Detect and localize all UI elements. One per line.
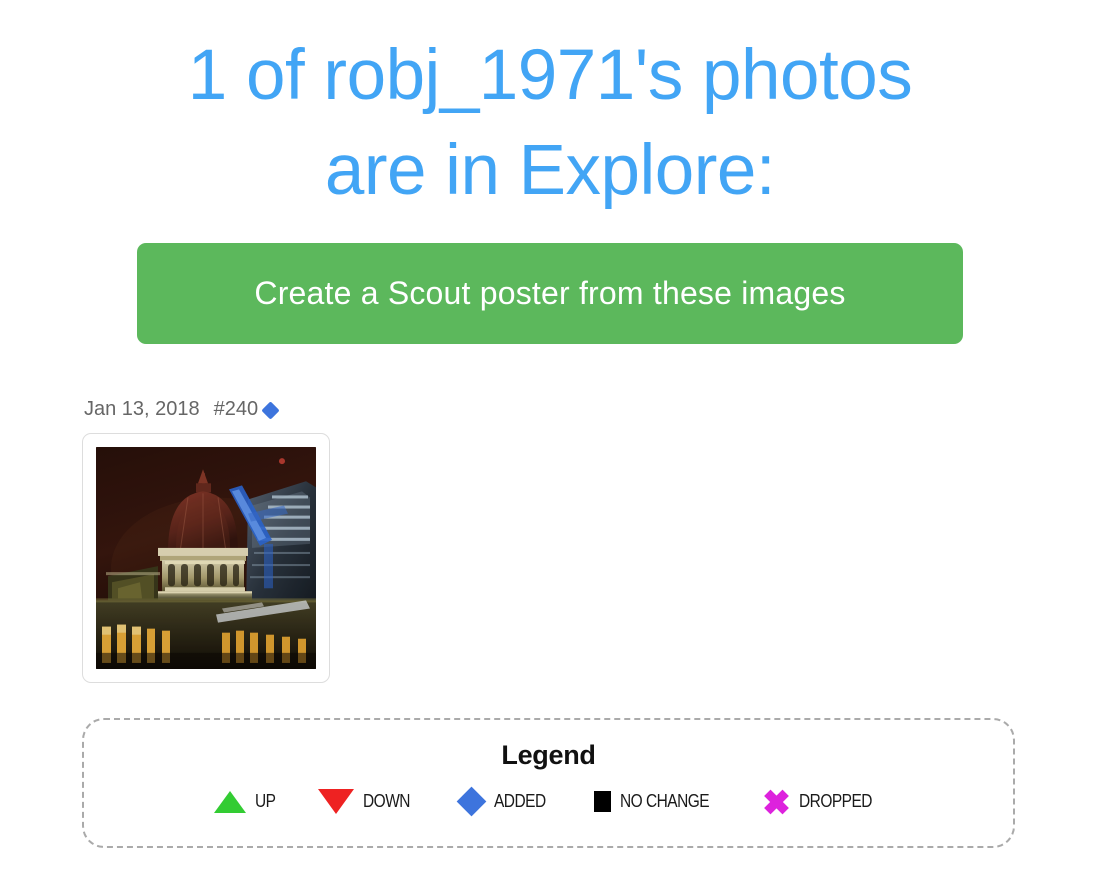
legend-item-added: ADDED	[458, 787, 554, 816]
legend-items: UP DOWN ADDED NO CHANGE DROPPED	[84, 787, 1013, 816]
entry-meta: Jan 13, 2018 #240	[84, 396, 277, 422]
legend-item-down: DOWN	[318, 789, 418, 814]
legend: Legend UP DOWN ADDED NO CHANGE DROPPED	[82, 718, 1015, 848]
photo-thumbnail[interactable]	[82, 433, 330, 683]
legend-title: Legend	[84, 740, 1013, 771]
legend-item-no-change: NO CHANGE	[594, 791, 724, 812]
create-scout-poster-button[interactable]: Create a Scout poster from these images	[137, 243, 963, 344]
legend-label-up: UP	[255, 791, 275, 812]
triangle-up-icon	[214, 791, 246, 813]
photo-image[interactable]	[96, 447, 316, 669]
legend-item-up: UP	[214, 791, 279, 813]
diamond-added-icon	[261, 401, 279, 419]
legend-item-dropped: DROPPED	[764, 789, 884, 815]
legend-label-down: DOWN	[363, 791, 410, 812]
cta-container: Create a Scout poster from these images	[0, 243, 1100, 344]
page-title: 1 of robj_1971's photos are in Explore:	[0, 28, 1100, 218]
diamond-icon	[457, 787, 487, 817]
entry-rank: #240	[214, 396, 259, 422]
entry-date: Jan 13, 2018	[84, 396, 200, 422]
cross-x-icon	[764, 789, 790, 815]
triangle-down-icon	[318, 789, 354, 814]
square-icon	[594, 791, 611, 812]
legend-label-added: ADDED	[494, 791, 546, 812]
legend-label-dropped: DROPPED	[799, 791, 872, 812]
legend-label-no-change: NO CHANGE	[620, 791, 709, 812]
